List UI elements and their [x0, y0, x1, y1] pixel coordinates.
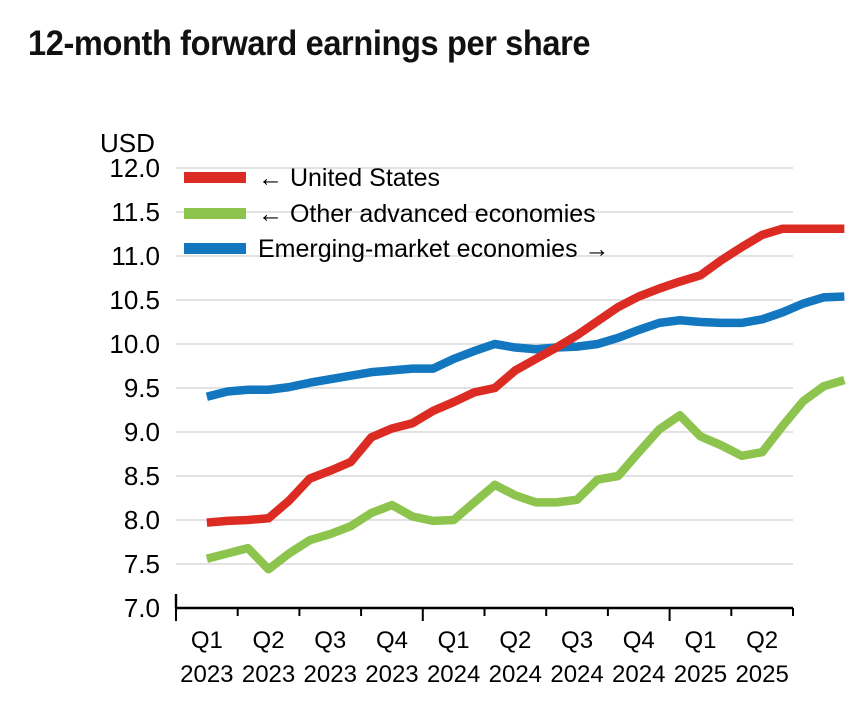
legend-label-other-advanced-economies: ← Other advanced economies — [258, 200, 596, 229]
y-axis-tick-label: 7.5 — [124, 549, 160, 579]
axis-lines — [176, 594, 793, 608]
plot-area: 12.011.511.010.510.09.59.08.58.07.57.0 Q… — [0, 0, 860, 720]
y-axis-tick-label: 11.0 — [111, 241, 160, 271]
x-axis-tick-label-year: 2023 — [242, 661, 295, 688]
y-axis-tick-label: 12.0 — [109, 153, 160, 183]
x-axis-tick-label-quarter: Q3 — [561, 627, 593, 654]
y-axis-tick-label: 8.0 — [124, 505, 160, 535]
y-axis-tick-label: 9.0 — [124, 417, 160, 447]
x-axis-tick-label-year: 2024 — [612, 661, 665, 688]
x-axis-tick-label-quarter: Q1 — [684, 627, 716, 654]
legend-swatch-united-states — [184, 172, 246, 183]
x-axis-tick-label-year: 2024 — [550, 661, 603, 688]
legend-swatch-other-advanced-economies — [184, 208, 246, 219]
x-axis-tick-label-quarter: Q1 — [438, 627, 470, 654]
x-axis-tick-label-year: 2023 — [304, 661, 357, 688]
legend-label-emerging-market-economies: Emerging-market economies → — [258, 235, 610, 264]
y-axis-tick-labels: 12.011.511.010.510.09.59.08.58.07.57.0 — [109, 153, 160, 623]
x-axis-tick-label-quarter: Q1 — [191, 627, 223, 654]
x-axis-ticks — [176, 608, 793, 621]
series-line-united-states — [207, 229, 844, 523]
x-axis-tick-label-quarter: Q4 — [376, 627, 408, 654]
x-axis-tick-label-quarter: Q4 — [623, 627, 655, 654]
x-axis-tick-label-year: 2023 — [180, 661, 233, 688]
data-series — [207, 229, 844, 570]
y-axis-tick-label: 7.0 — [124, 593, 160, 623]
y-axis-tick-label: 9.5 — [124, 373, 160, 403]
x-axis-tick-label-quarter: Q3 — [314, 627, 346, 654]
y-axis-tick-label: 10.0 — [109, 329, 160, 359]
x-axis-tick-label-quarter: Q2 — [253, 627, 285, 654]
x-axis-tick-label-year: 2025 — [735, 661, 788, 688]
x-axis-tick-label-quarter: Q2 — [746, 627, 778, 654]
x-axis-tick-label-quarter: Q2 — [499, 627, 531, 654]
series-line-emerging-market-economies — [207, 296, 844, 396]
series-line-other-advanced-economies — [207, 380, 844, 569]
legend-swatch-emerging-market-economies — [184, 243, 246, 254]
x-axis-tick-label-year: 2024 — [427, 661, 480, 688]
x-axis-tick-label-year: 2023 — [365, 661, 418, 688]
chart-figure: 12-month forward earnings per share USD … — [0, 0, 860, 720]
y-axis-tick-label: 11.5 — [111, 197, 160, 227]
x-axis-tick-labels: Q12023Q22023Q32023Q42023Q12024Q22024Q320… — [180, 627, 789, 688]
y-axis-tick-label: 8.5 — [124, 461, 160, 491]
legend-label-united-states: ← United States — [258, 164, 440, 193]
y-axis-tick-label: 10.5 — [109, 285, 160, 315]
x-axis-tick-label-year: 2024 — [489, 661, 542, 688]
x-axis-tick-label-year: 2025 — [674, 661, 727, 688]
